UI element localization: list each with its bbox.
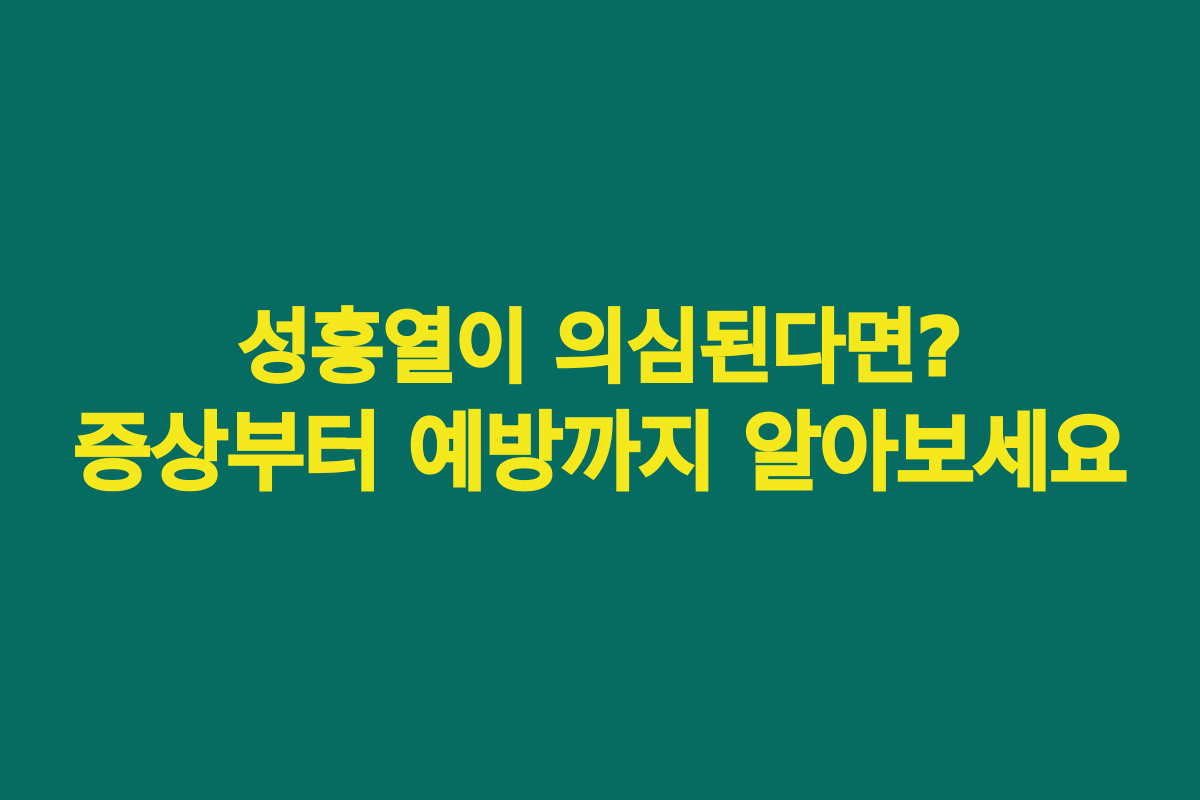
headline-line-primary: 성홍열이 의심된다면? <box>238 296 961 400</box>
headline-block: 성홍열이 의심된다면? 증상부터 예방까지 알아보세요 <box>0 296 1200 508</box>
headline-line-secondary: 증상부터 예방까지 알아보세요 <box>74 400 1127 508</box>
banner-canvas: 성홍열이 의심된다면? 증상부터 예방까지 알아보세요 <box>0 0 1200 800</box>
